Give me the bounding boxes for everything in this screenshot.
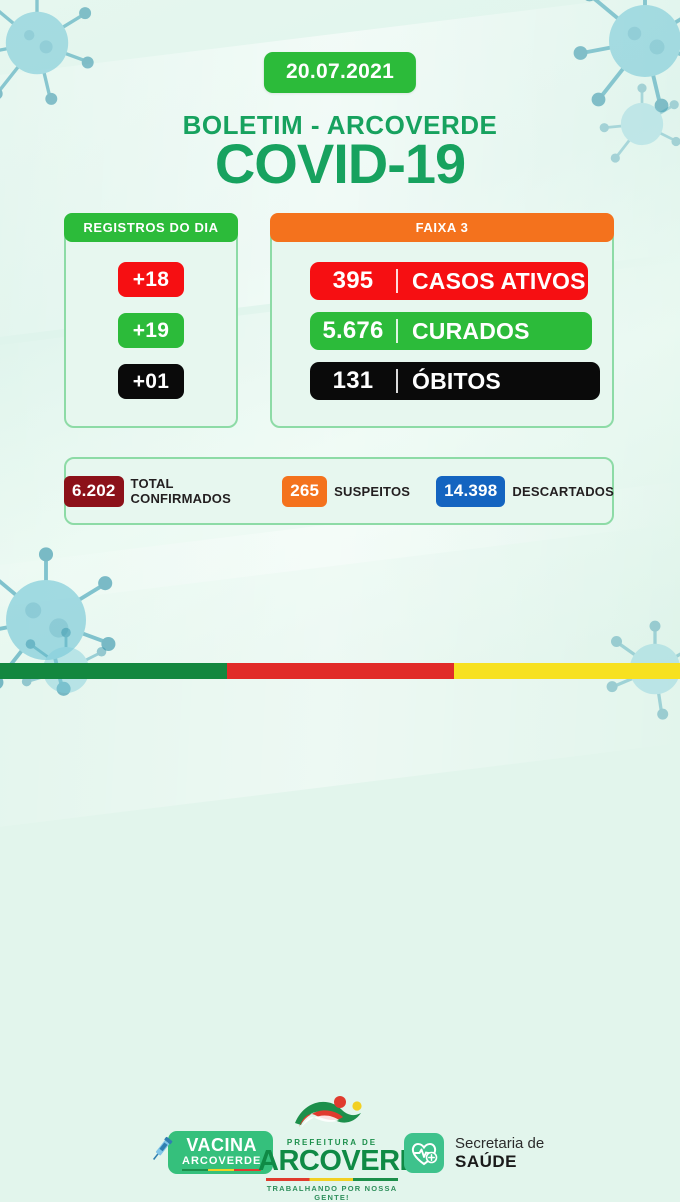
daily-chip-new-deaths: +01 [118, 364, 184, 399]
daily-chip-new-cases: +18 [118, 262, 184, 297]
stat-row-deaths: 131 ÓBITOS [310, 362, 600, 400]
summary-row: 6.202 TOTAL CONFIRMADOS 265 SUSPEITOS 14… [64, 457, 614, 525]
arcoverde-prefeitura-logo: PREFEITURA DE ARCOVERDE TRABALHANDO POR … [258, 1093, 406, 1202]
summary-label: SUSPEITOS [334, 484, 410, 499]
stat-label: CURADOS [398, 318, 530, 345]
bulletin-content: 20.07.2021 BOLETIM - ARCOVERDE COVID-19 … [0, 0, 680, 679]
page-title: COVID-19 [0, 136, 680, 192]
summary-label: TOTAL CONFIRMADOS [131, 476, 257, 506]
arcoverde-emblem-icon [289, 1118, 375, 1135]
status-panel-header: FAIXA 3 [270, 213, 614, 242]
bottom-color-stripe [0, 663, 680, 679]
stat-value: 131 [310, 367, 396, 395]
summary-label: DESCARTADOS [512, 484, 614, 499]
stat-value: 5.676 [310, 317, 396, 345]
summary-value: 265 [282, 476, 327, 507]
stripe-green [0, 663, 227, 679]
heart-pulse-icon [404, 1133, 444, 1173]
syringe-icon [146, 1133, 176, 1172]
vacina-line1: VACINA [182, 1136, 261, 1154]
vacina-line2: ARCOVERDE [182, 1156, 261, 1167]
stat-label: ÓBITOS [398, 368, 501, 395]
arcoverde-prefeitura-label: PREFEITURA DE [258, 1138, 406, 1147]
stat-label: CASOS ATIVOS [398, 268, 586, 295]
stripe-yellow [454, 663, 680, 679]
summary-item-suspected: 265 SUSPEITOS [282, 476, 410, 507]
arcoverde-color-bar [266, 1178, 398, 1181]
stat-value: 395 [310, 267, 396, 295]
saude-text: Secretaria de SAÚDE [455, 1135, 544, 1172]
date-badge: 20.07.2021 [264, 52, 416, 93]
summary-value: 14.398 [436, 476, 505, 507]
daily-chip-new-cured: +19 [118, 313, 184, 348]
arcoverde-name: ARCOVERDE [258, 1147, 406, 1176]
stripe-red [227, 663, 453, 679]
footer-logos: VACINA ARCOVERDE PREFEITURA DE ARCOVERDE… [0, 545, 680, 645]
stat-row-recovered: 5.676 CURADOS [310, 312, 592, 350]
arcoverde-slogan: TRABALHANDO POR NOSSA GENTE! [258, 1184, 406, 1202]
daily-records-header: REGISTROS DO DIA [64, 213, 238, 242]
stat-row-active-cases: 395 CASOS ATIVOS [310, 262, 588, 300]
vacina-stripe [182, 1169, 261, 1171]
summary-item-discarded: 14.398 DESCARTADOS [436, 476, 614, 507]
summary-value: 6.202 [64, 476, 124, 507]
secretaria-saude-logo: Secretaria de SAÚDE [404, 1133, 544, 1173]
saude-line2: SAÚDE [455, 1152, 544, 1172]
summary-item-total-confirmed: 6.202 TOTAL CONFIRMADOS [64, 476, 256, 507]
saude-line1: Secretaria de [455, 1135, 544, 1152]
vacina-arcoverde-logo: VACINA ARCOVERDE [146, 1131, 273, 1174]
